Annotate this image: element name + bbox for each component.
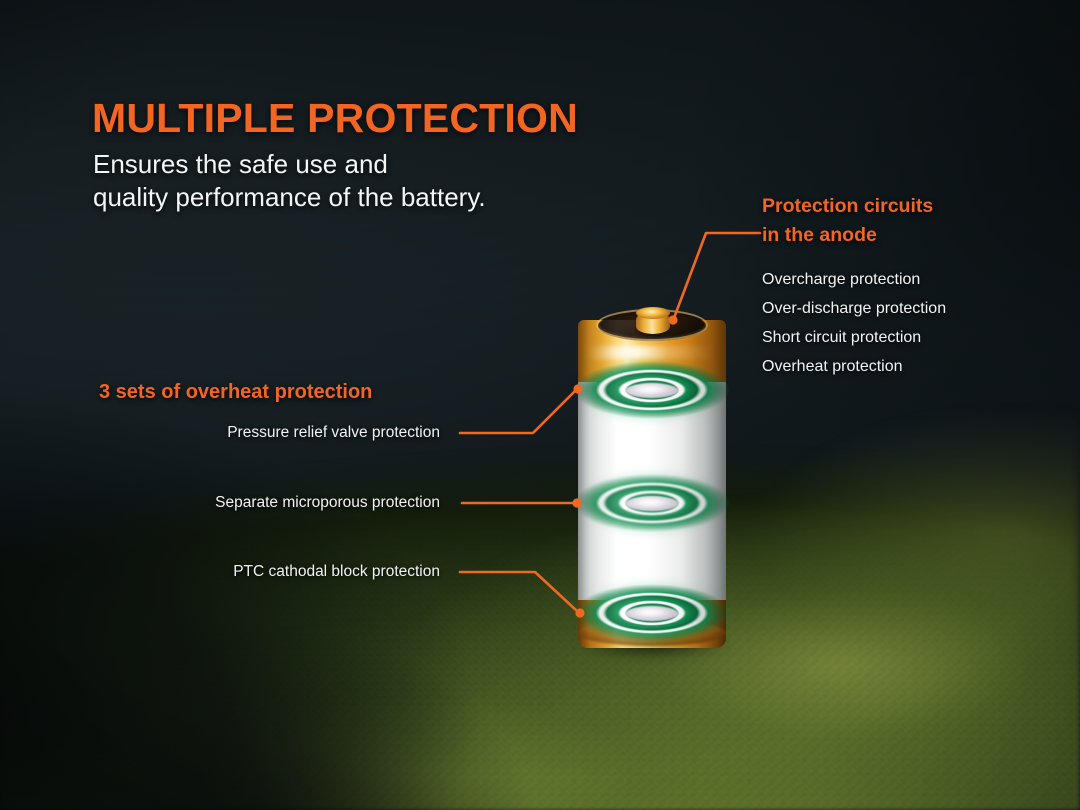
- anode-protection-list: Overcharge protection Over-discharge pro…: [762, 265, 1052, 381]
- overheat-label-microporous: Separate microporous protection: [215, 494, 440, 512]
- list-item: Over-discharge protection: [762, 294, 1052, 323]
- overheat-label-pressure-relief: Pressure relief valve protection: [227, 424, 440, 442]
- anode-title-line-2: in the anode: [762, 221, 1052, 250]
- overheat-label-ptc-block: PTC cathodal block protection: [233, 563, 440, 581]
- anode-callout-title: Protection circuits in the anode: [762, 192, 1052, 250]
- overheat-ring-bottom: [574, 584, 730, 642]
- infographic-canvas: MULTIPLE PROTECTION Ensures the safe use…: [0, 0, 1080, 810]
- list-item: Overheat protection: [762, 352, 1052, 381]
- subtitle-line-1: Ensures the safe use and: [93, 148, 486, 181]
- anode-title-line-1: Protection circuits: [762, 192, 1052, 221]
- overheat-ring-middle: [574, 474, 730, 532]
- anode-callout-group: Protection circuits in the anode Overcha…: [762, 192, 1052, 381]
- list-item: Overcharge protection: [762, 265, 1052, 294]
- page-title: MULTIPLE PROTECTION: [92, 95, 578, 142]
- positive-terminal-top: [636, 307, 670, 319]
- ring-core: [626, 496, 678, 511]
- overheat-callout-title: 3 sets of overheat protection: [99, 381, 372, 404]
- page-subtitle: Ensures the safe use and quality perform…: [93, 148, 486, 214]
- overheat-ring-top: [574, 361, 730, 419]
- list-item: Short circuit protection: [762, 323, 1052, 352]
- ring-core: [626, 606, 678, 621]
- battery-cell-illustration: [578, 320, 726, 648]
- subtitle-line-2: quality performance of the battery.: [93, 181, 486, 214]
- ring-core: [626, 383, 678, 398]
